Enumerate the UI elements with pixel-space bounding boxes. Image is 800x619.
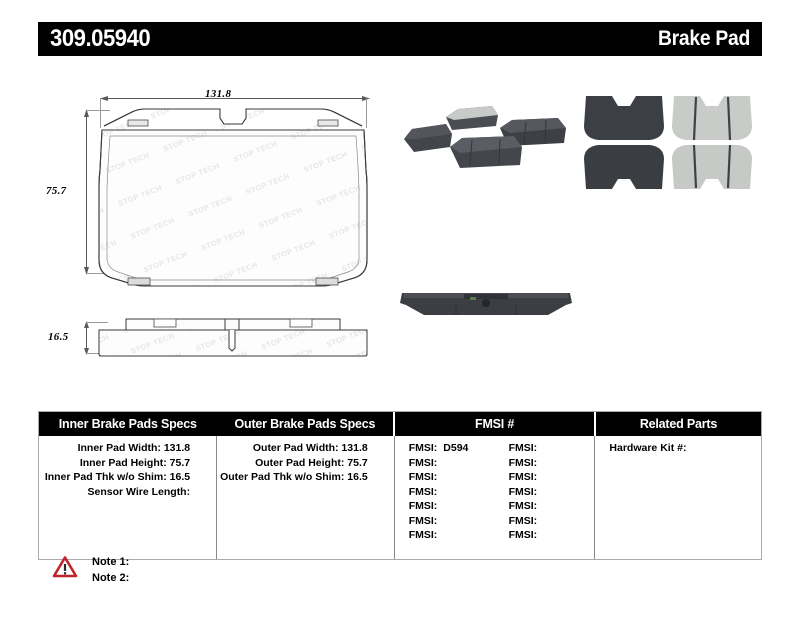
spec-row: Inner Pad Width: 131.8	[39, 441, 216, 456]
fmsi-row: FMSI:	[509, 485, 595, 500]
cell-fmsi: FMSI:D594FMSI:FMSI:FMSI:FMSI:FMSI:FMSI: …	[394, 436, 595, 559]
fmsi-row: FMSI:	[509, 514, 595, 529]
spec-row: Inner Pad Thk w/o Shim: 16.5	[39, 470, 216, 485]
fmsi-row: FMSI:	[409, 456, 495, 471]
drawing-area: 131.8 75.7 STOP TECHSTOP TECHST	[0, 60, 800, 390]
spec-label: Outer Pad Thk w/o Shim:	[220, 471, 344, 483]
fmsi-value	[437, 529, 443, 541]
cell-outer-specs: Outer Pad Width: 131.8Outer Pad Height: …	[217, 436, 395, 559]
fmsi-value	[537, 457, 543, 469]
height-dimension-arrows	[82, 106, 91, 278]
page-title: Brake Pad	[658, 27, 750, 51]
fmsi-value	[537, 471, 543, 483]
fmsi-row: FMSI:	[509, 499, 595, 514]
spec-table-body-row: Inner Pad Width: 131.8Inner Pad Height: …	[39, 436, 761, 559]
fmsi-value: D594	[437, 442, 468, 454]
fmsi-row: FMSI:	[409, 528, 495, 543]
fmsi-label: FMSI:	[509, 471, 538, 483]
product-photo-four-pads-angled	[400, 95, 580, 180]
spec-row: Sensor Wire Length:	[39, 485, 216, 500]
thickness-dimension-label: 16.5	[48, 331, 68, 343]
cell-inner-specs: Inner Pad Width: 131.8Inner Pad Height: …	[39, 436, 217, 559]
spec-value: 75.7	[344, 457, 367, 469]
fmsi-value	[437, 486, 443, 498]
fmsi-label: FMSI:	[409, 442, 438, 454]
cell-related-parts: Hardware Kit #:	[595, 436, 761, 559]
fmsi-row: FMSI:	[509, 456, 595, 471]
spec-value: 16.5	[344, 471, 367, 483]
related-part-row: Hardware Kit #:	[595, 441, 761, 456]
spec-row: Outer Pad Thk w/o Shim: 16.5	[217, 470, 394, 485]
fmsi-value	[537, 442, 543, 454]
fmsi-value	[537, 500, 543, 512]
fmsi-value	[437, 471, 443, 483]
warning-triangle-icon	[52, 555, 78, 579]
fmsi-row: FMSI:	[409, 470, 495, 485]
spec-value: 16.5	[167, 471, 190, 483]
width-dimension-label: 131.8	[205, 88, 231, 100]
fmsi-row: FMSI:	[409, 514, 495, 529]
fmsi-label: FMSI:	[509, 515, 538, 527]
spec-row: Outer Pad Height: 75.7	[217, 456, 394, 471]
spec-label: Inner Pad Thk w/o Shim:	[45, 471, 167, 483]
spec-label: Sensor Wire Length:	[88, 486, 191, 498]
fmsi-value	[437, 515, 443, 527]
pad-side-view: STOP TECHSTOP TECHSTOP TECHSTOP TECHSTOP…	[98, 318, 368, 362]
fmsi-label: FMSI:	[409, 529, 438, 541]
fmsi-row: FMSI:	[509, 470, 595, 485]
fmsi-label: FMSI:	[409, 515, 438, 527]
fmsi-label: FMSI:	[509, 486, 538, 498]
fmsi-value	[437, 457, 443, 469]
fmsi-label: FMSI:	[409, 486, 438, 498]
spec-value: 75.7	[167, 457, 190, 469]
fmsi-row: FMSI:	[509, 441, 595, 456]
fmsi-label: FMSI:	[509, 500, 538, 512]
fmsi-label: FMSI:	[409, 457, 438, 469]
fmsi-row: FMSI:D594	[409, 441, 495, 456]
spec-row: Inner Pad Height: 75.7	[39, 456, 216, 471]
fmsi-value	[537, 486, 543, 498]
fmsi-label: FMSI:	[409, 500, 438, 512]
spec-label: Outer Pad Width:	[253, 442, 339, 454]
fmsi-value	[437, 500, 443, 512]
column-header-related-parts: Related Parts	[595, 412, 761, 436]
fmsi-value	[537, 529, 543, 541]
pad-front-view: STOP TECHSTOP TECHSTOP TECHSTOP TECHSTOP…	[98, 108, 368, 288]
column-header-fmsi: FMSI #	[394, 412, 595, 436]
fmsi-row: FMSI:	[409, 499, 495, 514]
fmsi-value	[537, 515, 543, 527]
header-banner: 309.05940 Brake Pad	[38, 22, 762, 56]
fmsi-label: FMSI:	[509, 457, 538, 469]
fmsi-row: FMSI:	[409, 485, 495, 500]
column-header-inner-specs: Inner Brake Pads Specs	[39, 412, 217, 436]
part-number: 309.05940	[50, 25, 150, 53]
spec-value: 131.8	[339, 442, 368, 454]
spec-label: Inner Pad Height:	[80, 457, 167, 469]
notes-section: Note 1:Note 2:	[52, 555, 129, 586]
note-line: Note 2:	[92, 571, 129, 587]
height-dimension-label: 75.7	[46, 185, 66, 197]
fmsi-label: FMSI:	[509, 442, 538, 454]
spec-row: Outer Pad Width: 131.8	[217, 441, 394, 456]
note-line: Note 1:	[92, 555, 129, 571]
fmsi-row: FMSI:	[509, 528, 595, 543]
product-photo-pad-grid	[578, 90, 756, 195]
fmsi-label: FMSI:	[509, 529, 538, 541]
spec-table: Inner Brake Pads Specs Outer Brake Pads …	[38, 411, 762, 560]
product-photo-pad-edge-view	[398, 285, 574, 325]
watermark-pattern: STOP TECHSTOP TECHSTOP TECHSTOP TECHSTOP…	[98, 108, 368, 288]
spec-label: Outer Pad Height:	[255, 457, 344, 469]
column-header-outer-specs: Outer Brake Pads Specs	[217, 412, 395, 436]
width-dimension-arrows	[96, 94, 374, 103]
fmsi-label: FMSI:	[409, 471, 438, 483]
spec-label: Inner Pad Width:	[78, 442, 161, 454]
spec-table-header-row: Inner Brake Pads Specs Outer Brake Pads …	[39, 412, 761, 436]
spec-value: 131.8	[161, 442, 190, 454]
thickness-dimension-arrows	[82, 318, 91, 358]
